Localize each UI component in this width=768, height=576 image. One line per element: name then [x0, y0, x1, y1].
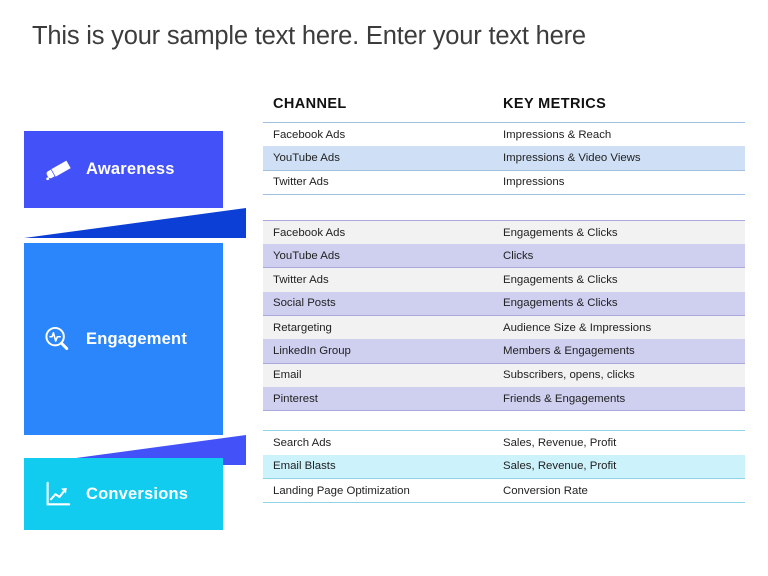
table-row: Email BlastsSales, Revenue, Profit: [263, 455, 745, 478]
stage-label-conversions: Conversions: [86, 485, 188, 504]
cell-channel: Email Blasts: [263, 460, 501, 472]
stage-band-awareness: Awareness: [24, 131, 223, 208]
cell-channel: Facebook Ads: [263, 129, 501, 141]
group-spacer: [263, 195, 745, 220]
table-row: YouTube AdsClicks: [263, 244, 745, 267]
cell-channel: LinkedIn Group: [263, 345, 501, 357]
table-group-engagement: Facebook AdsEngagements & ClicksYouTube …: [263, 220, 745, 411]
cell-channel: Twitter Ads: [263, 274, 501, 286]
stage-label-engagement: Engagement: [86, 330, 187, 349]
table-row: YouTube AdsImpressions & Video Views: [263, 146, 745, 169]
cell-channel: YouTube Ads: [263, 250, 501, 262]
cell-key-metric: Friends & Engagements: [501, 393, 745, 405]
cell-key-metric: Conversion Rate: [501, 485, 745, 497]
cell-key-metric: Engagements & Clicks: [501, 297, 745, 309]
cell-channel: Search Ads: [263, 437, 501, 449]
cell-channel: Retargeting: [263, 322, 501, 334]
table-row: Landing Page OptimizationConversion Rate: [263, 479, 745, 502]
cell-key-metric: Engagements & Clicks: [501, 227, 745, 239]
table-group-awareness: Facebook AdsImpressions & ReachYouTube A…: [263, 122, 745, 195]
funnel-stage-engagement[interactable]: Engagement: [0, 243, 270, 465]
cell-channel: Pinterest: [263, 393, 501, 405]
cell-channel: YouTube Ads: [263, 152, 501, 164]
cell-key-metric: Audience Size & Impressions: [501, 322, 745, 334]
cell-key-metric: Impressions: [501, 176, 745, 188]
growth-chart-icon: [42, 479, 72, 509]
channels-table: CHANNEL KEY METRICS Facebook AdsImpressi…: [263, 96, 745, 503]
table-row: PinterestFriends & Engagements: [263, 387, 745, 410]
stage-fold-awareness: [24, 208, 246, 238]
cell-key-metric: Clicks: [501, 250, 745, 262]
cell-key-metric: Engagements & Clicks: [501, 274, 745, 286]
page-title: This is your sample text here. Enter you…: [32, 22, 732, 51]
cell-channel: Twitter Ads: [263, 176, 501, 188]
funnel-stage-conversions[interactable]: Conversions: [0, 458, 270, 535]
table-row: Social PostsEngagements & Clicks: [263, 292, 745, 315]
stage-band-engagement: Engagement: [24, 243, 223, 435]
cell-channel: Landing Page Optimization: [263, 485, 501, 497]
group-spacer: [263, 411, 745, 430]
cell-key-metric: Members & Engagements: [501, 345, 745, 357]
table-header-row: CHANNEL KEY METRICS: [263, 96, 745, 122]
column-header-channel: CHANNEL: [263, 96, 501, 112]
cell-channel: Email: [263, 369, 501, 381]
table-row: Facebook AdsEngagements & Clicks: [263, 221, 745, 244]
magnifier-pulse-icon: [42, 324, 72, 354]
cell-key-metric: Impressions & Reach: [501, 129, 745, 141]
table-row: LinkedIn GroupMembers & Engagements: [263, 339, 745, 362]
cell-key-metric: Sales, Revenue, Profit: [501, 437, 745, 449]
cell-key-metric: Impressions & Video Views: [501, 152, 745, 164]
table-row: EmailSubscribers, opens, clicks: [263, 364, 745, 387]
cell-channel: Social Posts: [263, 297, 501, 309]
table-row: RetargetingAudience Size & Impressions: [263, 316, 745, 339]
stage-label-awareness: Awareness: [86, 160, 175, 179]
table-rule: [263, 502, 745, 503]
table-row: Facebook AdsImpressions & Reach: [263, 123, 745, 146]
megaphone-icon: [42, 155, 72, 185]
column-header-key-metrics: KEY METRICS: [501, 96, 745, 112]
cell-key-metric: Subscribers, opens, clicks: [501, 369, 745, 381]
table-group-conversions: Search AdsSales, Revenue, ProfitEmail Bl…: [263, 430, 745, 503]
stage-band-conversions: Conversions: [24, 458, 223, 530]
cell-channel: Facebook Ads: [263, 227, 501, 239]
cell-key-metric: Sales, Revenue, Profit: [501, 460, 745, 472]
slide-canvas: This is your sample text here. Enter you…: [0, 0, 768, 576]
table-row: Search AdsSales, Revenue, Profit: [263, 431, 745, 454]
table-row: Twitter AdsEngagements & Clicks: [263, 268, 745, 291]
table-row: Twitter AdsImpressions: [263, 171, 745, 194]
funnel-stage-awareness[interactable]: Awareness: [0, 131, 270, 235]
